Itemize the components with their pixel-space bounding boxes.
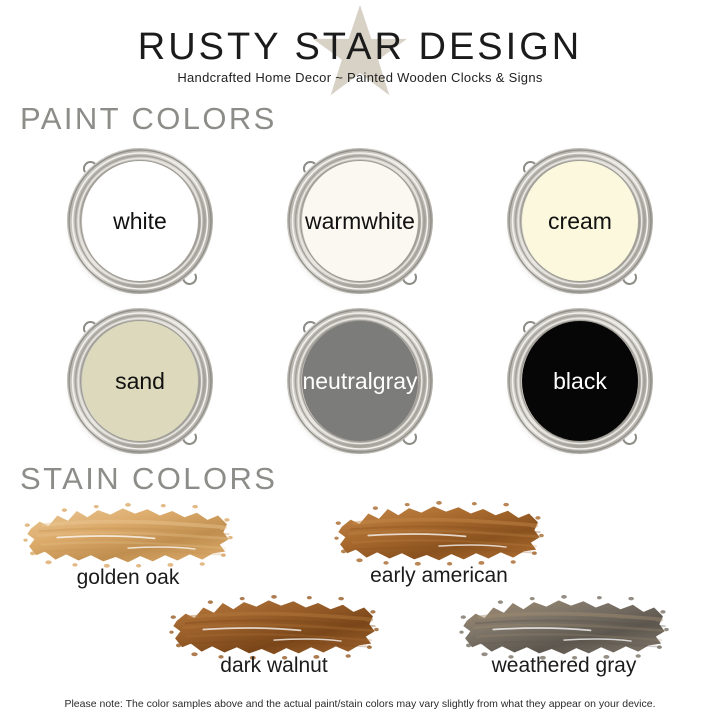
paint-swatch-fill xyxy=(522,161,638,281)
paint-can-neutral-gray[interactable]: neutralgray xyxy=(285,308,435,458)
paint-can-warm-white[interactable]: warmwhite xyxy=(285,148,435,298)
stain-color-label: golden oak xyxy=(22,566,234,590)
paint-can-black[interactable]: black xyxy=(505,308,655,458)
stain-smear xyxy=(458,590,670,662)
paint-can-white[interactable]: white xyxy=(65,148,215,298)
stain-swatch-weathered-gray[interactable]: weathered gray xyxy=(458,590,670,684)
stain-smear xyxy=(168,590,380,662)
stain-color-label: dark walnut xyxy=(168,654,380,678)
paint-swatch-fill xyxy=(302,321,418,441)
stain-swatch-early-american[interactable]: early american xyxy=(333,496,545,594)
stain-swatch-dark-walnut[interactable]: dark walnut xyxy=(168,590,380,684)
stain-colors-heading: STAIN COLORS xyxy=(20,461,277,497)
stain-swatch-golden-oak[interactable]: golden oak xyxy=(22,498,234,596)
paint-can-sand[interactable]: sand xyxy=(65,308,215,458)
paint-swatch-fill xyxy=(82,161,198,281)
page-title: RUSTY STAR DESIGN xyxy=(0,26,720,69)
brand-header: RUSTY STAR DESIGN Handcrafted Home Decor… xyxy=(0,0,720,96)
stain-color-label: early american xyxy=(333,564,545,588)
paint-swatch-fill xyxy=(82,321,198,441)
stain-color-label: weathered gray xyxy=(458,654,670,678)
paint-can-cream[interactable]: cream xyxy=(505,148,655,298)
paint-colors-heading: PAINT COLORS xyxy=(20,101,277,137)
brand-tagline: Handcrafted Home Decor ~ Painted Wooden … xyxy=(0,70,720,85)
stain-colors-grid: golden oakearly americandark walnutweath… xyxy=(0,494,720,684)
paint-swatch-fill xyxy=(522,321,638,441)
stain-smear xyxy=(333,496,545,568)
disclaimer-note: Please note: The color samples above and… xyxy=(0,698,720,710)
stain-smear xyxy=(22,498,234,570)
paint-colors-grid: whitewarmwhitecreamsandneutralgrayblack xyxy=(0,140,720,460)
paint-swatch-fill xyxy=(302,161,418,281)
